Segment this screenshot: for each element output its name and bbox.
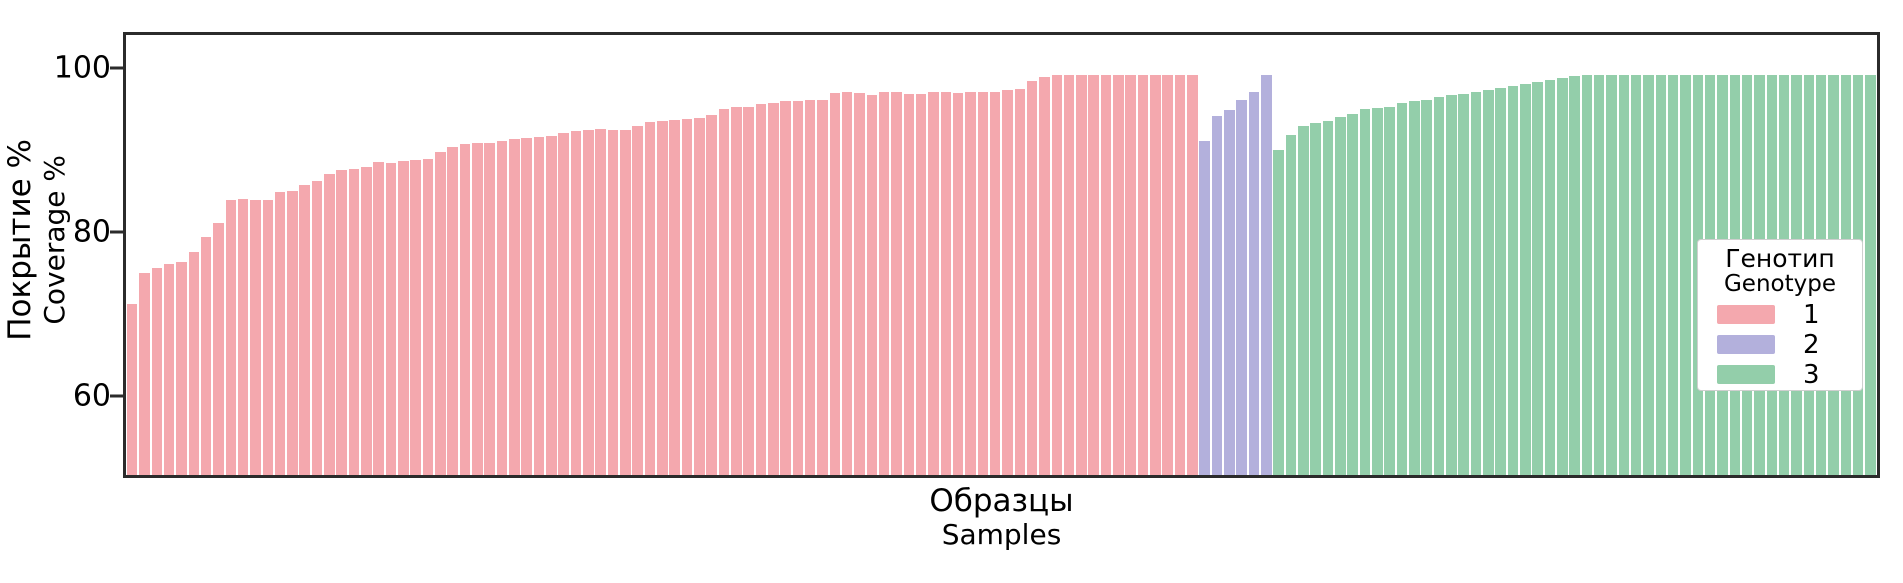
bar-genotype-1: [1125, 75, 1136, 475]
bar-genotype-1: [645, 122, 656, 475]
bar-genotype-3: [1384, 107, 1395, 475]
bar-genotype-1: [139, 273, 150, 475]
bar-genotype-3: [1495, 88, 1506, 475]
bar-genotype-1: [324, 174, 335, 475]
bar-genotype-1: [854, 93, 865, 475]
bar-genotype-1: [373, 162, 384, 475]
bar-series-container: [126, 35, 1877, 475]
bar-genotype-3: [1273, 150, 1284, 475]
y-tick-mark-100: [110, 67, 123, 70]
bar-genotype-2: [1224, 110, 1235, 475]
bar-genotype-3: [1643, 75, 1654, 475]
bar-genotype-1: [768, 103, 779, 475]
bar-genotype-1: [608, 130, 619, 475]
bar-genotype-3: [1569, 76, 1580, 475]
bar-genotype-3: [1298, 126, 1309, 475]
bar-genotype-1: [546, 136, 557, 475]
bar-genotype-1: [312, 181, 323, 475]
legend-swatch-2: [1717, 335, 1775, 354]
bar-genotype-1: [743, 107, 754, 475]
x-axis-label-group: Образцы Samples: [123, 484, 1880, 552]
bar-genotype-1: [620, 130, 631, 475]
bar-genotype-1: [226, 200, 237, 475]
bar-genotype-3: [1286, 135, 1297, 475]
bar-genotype-3: [1310, 123, 1321, 475]
bar-genotype-1: [941, 92, 952, 475]
bar-genotype-3: [1557, 78, 1568, 475]
bar-genotype-1: [263, 200, 274, 475]
bar-genotype-1: [361, 167, 372, 475]
bar-genotype-1: [287, 191, 298, 475]
legend: Генотип Genotype 123: [1697, 239, 1863, 391]
bar-genotype-1: [1138, 75, 1149, 475]
bar-genotype-3: [1631, 75, 1642, 475]
legend-swatch-1: [1717, 305, 1775, 324]
bar-genotype-3: [1532, 82, 1543, 475]
bar-genotype-3: [1409, 101, 1420, 475]
bar-genotype-1: [657, 121, 668, 475]
bar-genotype-3: [1458, 94, 1469, 475]
bar-genotype-3: [1471, 92, 1482, 475]
bar-genotype-1: [176, 262, 187, 475]
bar-genotype-1: [1187, 75, 1198, 475]
bar-genotype-3: [1483, 90, 1494, 475]
bar-genotype-1: [189, 252, 200, 475]
bar-genotype-3: [1680, 75, 1691, 475]
bar-genotype-1: [571, 131, 582, 475]
bar-genotype-1: [928, 92, 939, 475]
bar-genotype-1: [250, 200, 261, 475]
bar-genotype-3: [1360, 109, 1371, 475]
bar-genotype-2: [1199, 141, 1210, 475]
bar-genotype-1: [1076, 75, 1087, 475]
bar-genotype-3: [1347, 114, 1358, 475]
bar-genotype-1: [1064, 75, 1075, 475]
y-axis-ticks: 100 80 60: [0, 0, 123, 583]
y-tick-mark-60: [110, 395, 123, 398]
legend-item-1[interactable]: 1: [1717, 300, 1843, 330]
bar-genotype-1: [817, 100, 828, 475]
bar-genotype-1: [793, 101, 804, 475]
bar-genotype-2: [1212, 116, 1223, 475]
bar-genotype-3: [1619, 75, 1630, 475]
bar-genotype-1: [805, 100, 816, 475]
bar-genotype-1: [879, 92, 890, 475]
legend-title-ru: Генотип: [1725, 245, 1834, 272]
legend-label-1: 1: [1803, 302, 1820, 328]
bar-genotype-1: [780, 101, 791, 475]
bar-genotype-3: [1656, 75, 1667, 475]
bar-genotype-1: [891, 92, 902, 475]
bar-genotype-3: [1606, 75, 1617, 475]
y-tick-mark-80: [110, 231, 123, 234]
bar-genotype-3: [1323, 121, 1334, 475]
bar-genotype-1: [349, 169, 360, 475]
bar-genotype-1: [398, 161, 409, 475]
bar-genotype-1: [1039, 77, 1050, 475]
bar-genotype-1: [1150, 75, 1161, 475]
bar-genotype-1: [447, 147, 458, 475]
coverage-bar-chart-figure: Покрытие % Coverage % 100 80 60 Генотип …: [0, 0, 1903, 583]
bar-genotype-3: [1545, 80, 1556, 475]
bar-genotype-1: [1162, 75, 1173, 475]
bar-genotype-1: [694, 118, 705, 475]
bar-genotype-1: [152, 268, 163, 475]
bar-genotype-1: [669, 120, 680, 475]
plot-area: [123, 32, 1880, 478]
bar-genotype-1: [583, 130, 594, 475]
x-axis-label-ru: Образцы: [123, 484, 1880, 519]
bar-genotype-1: [534, 137, 545, 475]
bar-genotype-1: [1015, 89, 1026, 475]
bar-genotype-3: [1372, 108, 1383, 475]
bar-genotype-1: [127, 304, 138, 475]
bar-genotype-1: [558, 133, 569, 475]
bar-genotype-1: [164, 264, 175, 475]
bar-genotype-2: [1249, 92, 1260, 475]
bar-genotype-1: [521, 138, 532, 475]
bar-genotype-1: [497, 141, 508, 475]
bar-genotype-1: [410, 160, 421, 475]
bar-genotype-1: [830, 93, 841, 475]
bar-genotype-1: [595, 129, 606, 475]
bar-genotype-3: [1397, 103, 1408, 475]
legend-swatch-3: [1717, 365, 1775, 384]
legend-title-en: Genotype: [1724, 272, 1836, 298]
bar-genotype-1: [238, 199, 249, 475]
bar-genotype-1: [842, 92, 853, 475]
bar-genotype-1: [1052, 75, 1063, 475]
bar-genotype-1: [706, 115, 717, 475]
bar-genotype-3: [1446, 95, 1457, 475]
bar-genotype-3: [1594, 75, 1605, 475]
bar-genotype-3: [1582, 75, 1593, 475]
bar-genotype-1: [965, 92, 976, 475]
bar-genotype-1: [1175, 75, 1186, 475]
bar-genotype-1: [632, 126, 643, 475]
bar-genotype-1: [990, 92, 1001, 475]
bar-genotype-1: [336, 170, 347, 475]
legend-label-2: 2: [1803, 332, 1820, 358]
bar-genotype-1: [867, 95, 878, 475]
bar-genotype-1: [916, 94, 927, 475]
bar-genotype-1: [719, 109, 730, 475]
bar-genotype-1: [1088, 75, 1099, 475]
bar-genotype-1: [275, 192, 286, 475]
bar-genotype-1: [756, 104, 767, 475]
bar-genotype-1: [299, 185, 310, 475]
bar-genotype-3: [1668, 75, 1679, 475]
x-axis-label-en: Samples: [123, 519, 1880, 551]
bar-genotype-1: [978, 92, 989, 475]
bar-genotype-1: [1002, 90, 1013, 475]
bar-genotype-3: [1421, 100, 1432, 475]
bar-genotype-1: [1027, 81, 1038, 475]
bar-genotype-1: [460, 144, 471, 475]
bar-genotype-1: [682, 119, 693, 475]
bar-genotype-1: [201, 237, 212, 475]
bar-genotype-1: [386, 163, 397, 475]
bar-genotype-3: [1865, 75, 1876, 475]
legend-item-2[interactable]: 2: [1717, 330, 1843, 360]
bar-genotype-3: [1508, 86, 1519, 475]
bar-genotype-1: [423, 159, 434, 475]
bar-genotype-1: [731, 107, 742, 475]
bar-genotype-1: [435, 152, 446, 475]
bar-genotype-1: [484, 143, 495, 475]
bar-genotype-1: [213, 223, 224, 475]
bar-genotype-1: [472, 143, 483, 475]
legend-label-3: 3: [1803, 362, 1820, 388]
bar-genotype-1: [1101, 75, 1112, 475]
bar-genotype-1: [1113, 75, 1124, 475]
legend-item-3[interactable]: 3: [1717, 360, 1843, 390]
bar-genotype-1: [509, 139, 520, 475]
bar-genotype-3: [1434, 97, 1445, 475]
bar-genotype-3: [1520, 84, 1531, 475]
legend-items: 123: [1717, 300, 1843, 390]
bar-genotype-1: [904, 94, 915, 475]
bar-genotype-2: [1261, 75, 1272, 475]
bar-genotype-2: [1236, 100, 1247, 475]
bar-genotype-3: [1335, 117, 1346, 475]
bar-genotype-1: [953, 93, 964, 475]
